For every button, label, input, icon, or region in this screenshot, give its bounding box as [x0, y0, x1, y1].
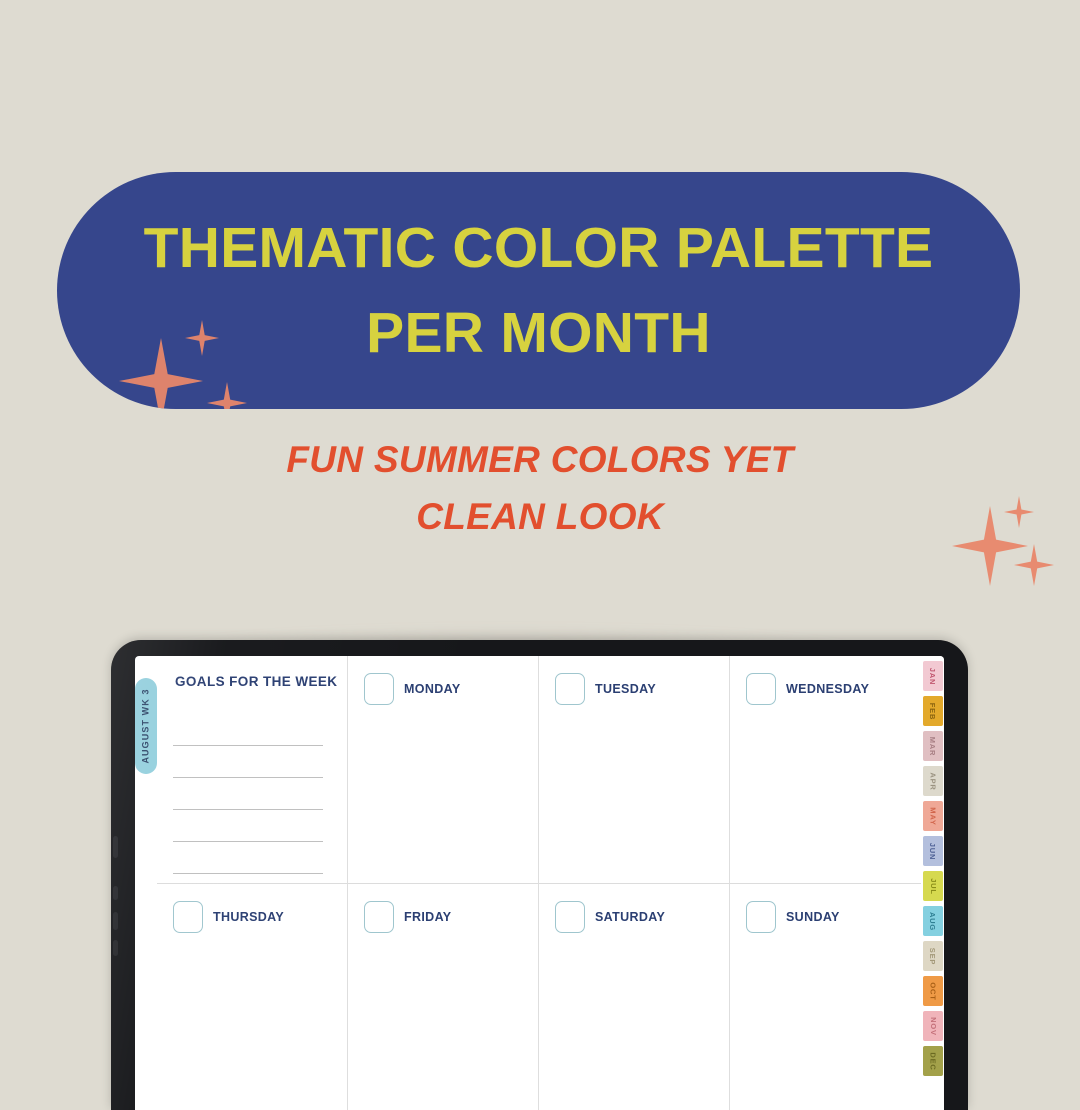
page-subtitle-line-2: CLEAN LOOK: [0, 489, 1080, 546]
day-header: FRIDAY: [364, 901, 538, 933]
month-tab-rail: JANFEBMARAPRMAYJUNJULAUGSEPOCTNOVDEC: [921, 656, 944, 1110]
month-tab-label: JUN: [929, 842, 938, 859]
checkbox-monday[interactable]: [364, 673, 394, 705]
tablet-screen: AUGUST WK 3 GOALS FOR THE WEEK MONDAY: [135, 656, 944, 1110]
month-tab-label: MAR: [928, 736, 937, 755]
goals-write-lines[interactable]: [173, 714, 323, 874]
checkbox-tuesday[interactable]: [555, 673, 585, 705]
month-tab-apr[interactable]: APR: [923, 766, 943, 796]
month-tab-label: JAN: [929, 667, 938, 684]
page-title-line-1: THEMATIC COLOR PALETTE: [144, 203, 934, 293]
day-cell-thursday[interactable]: THURSDAY: [157, 884, 348, 1110]
month-tab-label: DEC: [929, 1052, 938, 1070]
title-banner: THEMATIC COLOR PALETTE PER MONTH: [57, 172, 1020, 409]
month-tab-label: AUG: [928, 911, 937, 930]
month-tab-jun[interactable]: JUN: [923, 836, 943, 866]
page-subtitle: FUN SUMMER COLORS YET CLEAN LOOK: [0, 432, 1080, 545]
month-tab-label: FEB: [929, 702, 938, 719]
side-button-b[interactable]: [113, 940, 118, 956]
month-tab-mar[interactable]: MAR: [923, 731, 943, 761]
day-header: SUNDAY: [746, 901, 921, 933]
day-cell-tuesday[interactable]: TUESDAY: [539, 656, 730, 884]
day-cell-saturday[interactable]: SATURDAY: [539, 884, 730, 1110]
tablet-device: AUGUST WK 3 GOALS FOR THE WEEK MONDAY: [111, 640, 968, 1110]
day-label-thursday: THURSDAY: [213, 910, 284, 924]
month-tab-feb[interactable]: FEB: [923, 696, 943, 726]
checkbox-saturday[interactable]: [555, 901, 585, 933]
checkbox-sunday[interactable]: [746, 901, 776, 933]
day-label-monday: MONDAY: [404, 682, 461, 696]
month-tab-label: SEP: [928, 947, 937, 964]
month-tab-label: OCT: [928, 982, 937, 1000]
checkbox-wednesday[interactable]: [746, 673, 776, 705]
day-cell-wednesday[interactable]: WEDNESDAY: [730, 656, 921, 884]
day-label-saturday: SATURDAY: [595, 910, 665, 924]
goal-line[interactable]: [173, 714, 323, 746]
day-cell-friday[interactable]: FRIDAY: [348, 884, 539, 1110]
goals-cell[interactable]: GOALS FOR THE WEEK: [157, 656, 348, 884]
goal-line[interactable]: [173, 778, 323, 810]
volume-down-button[interactable]: [113, 886, 118, 900]
day-header: MONDAY: [364, 673, 538, 705]
day-header: THURSDAY: [173, 901, 347, 933]
day-label-friday: FRIDAY: [404, 910, 451, 924]
day-label-tuesday: TUESDAY: [595, 682, 656, 696]
month-tab-jul[interactable]: JUL: [923, 871, 943, 901]
month-tab-oct[interactable]: OCT: [923, 976, 943, 1006]
month-tab-nov[interactable]: NOV: [923, 1011, 943, 1041]
volume-up-button[interactable]: [113, 836, 118, 858]
day-label-sunday: SUNDAY: [786, 910, 840, 924]
month-tab-aug[interactable]: AUG: [923, 906, 943, 936]
page-subtitle-line-1: FUN SUMMER COLORS YET: [0, 432, 1080, 489]
month-tab-label: MAY: [928, 807, 937, 825]
goal-line[interactable]: [173, 810, 323, 842]
checkbox-thursday[interactable]: [173, 901, 203, 933]
month-tab-dec[interactable]: DEC: [923, 1046, 943, 1076]
week-tab[interactable]: AUGUST WK 3: [135, 678, 157, 774]
goal-line[interactable]: [173, 746, 323, 778]
month-tab-sep[interactable]: SEP: [923, 941, 943, 971]
month-tab-label: NOV: [929, 1017, 938, 1036]
month-tab-may[interactable]: MAY: [923, 801, 943, 831]
month-tab-label: JUL: [928, 878, 937, 895]
checkbox-friday[interactable]: [364, 901, 394, 933]
page-title: THEMATIC COLOR PALETTE PER MONTH: [57, 172, 1020, 409]
goal-line[interactable]: [173, 842, 323, 874]
day-cell-sunday[interactable]: SUNDAY: [730, 884, 921, 1110]
side-button-a[interactable]: [113, 912, 118, 930]
day-header: SATURDAY: [555, 901, 729, 933]
day-label-wednesday: WEDNESDAY: [786, 682, 869, 696]
sparkle-icon-medium: [1014, 544, 1054, 586]
planner-grid: GOALS FOR THE WEEK MONDAY TU: [157, 656, 921, 1110]
month-tab-label: APR: [929, 772, 938, 790]
week-tab-label: AUGUST WK 3: [141, 688, 151, 763]
month-tab-jan[interactable]: JAN: [923, 661, 943, 691]
day-cell-monday[interactable]: MONDAY: [348, 656, 539, 884]
goals-title: GOALS FOR THE WEEK: [175, 674, 347, 689]
page-title-line-2: PER MONTH: [366, 288, 711, 378]
day-header: WEDNESDAY: [746, 673, 921, 705]
day-header: TUESDAY: [555, 673, 729, 705]
